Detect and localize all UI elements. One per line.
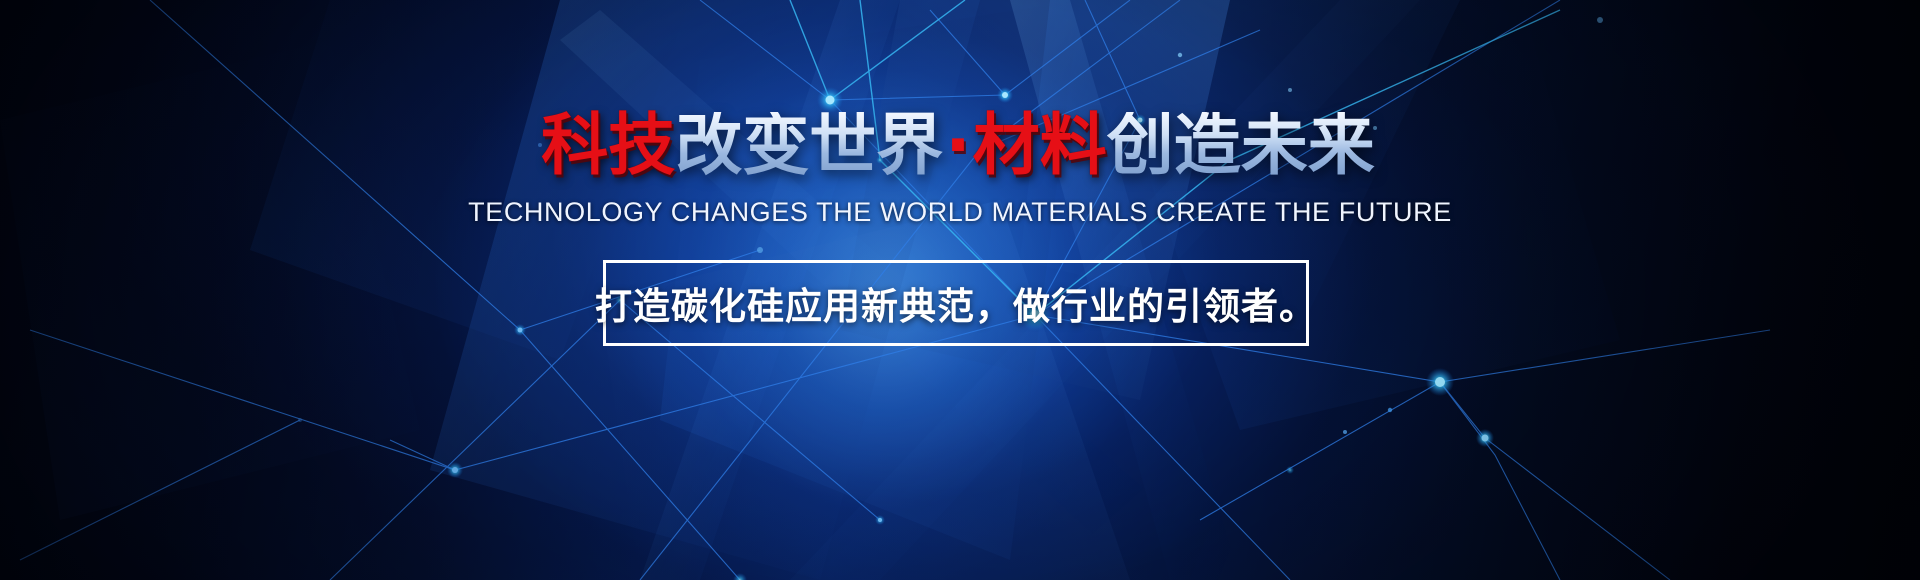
banner-subtitle: TECHNOLOGY CHANGES THE WORLD MATERIALS C… [468, 197, 1452, 228]
headline-segment-1: 科技 [541, 112, 675, 179]
slogan-box: 打造碳化硅应用新典范，做行业的引领者。 [603, 260, 1309, 346]
banner-headline: 科技改变世界·材料创造未来 [541, 112, 1374, 179]
headline-separator-dot: · [943, 112, 972, 179]
headline-segment-2: 改变世界 [675, 112, 943, 179]
banner-content: 科技改变世界·材料创造未来 TECHNOLOGY CHANGES THE WOR… [0, 0, 1920, 580]
hero-banner: 科技改变世界·材料创造未来 TECHNOLOGY CHANGES THE WOR… [0, 0, 1920, 580]
slogan-text: 打造碳化硅应用新典范，做行业的引领者。 [595, 276, 1317, 330]
headline-segment-4: 创造未来 [1107, 112, 1375, 179]
headline-segment-3: 材料 [973, 112, 1107, 179]
